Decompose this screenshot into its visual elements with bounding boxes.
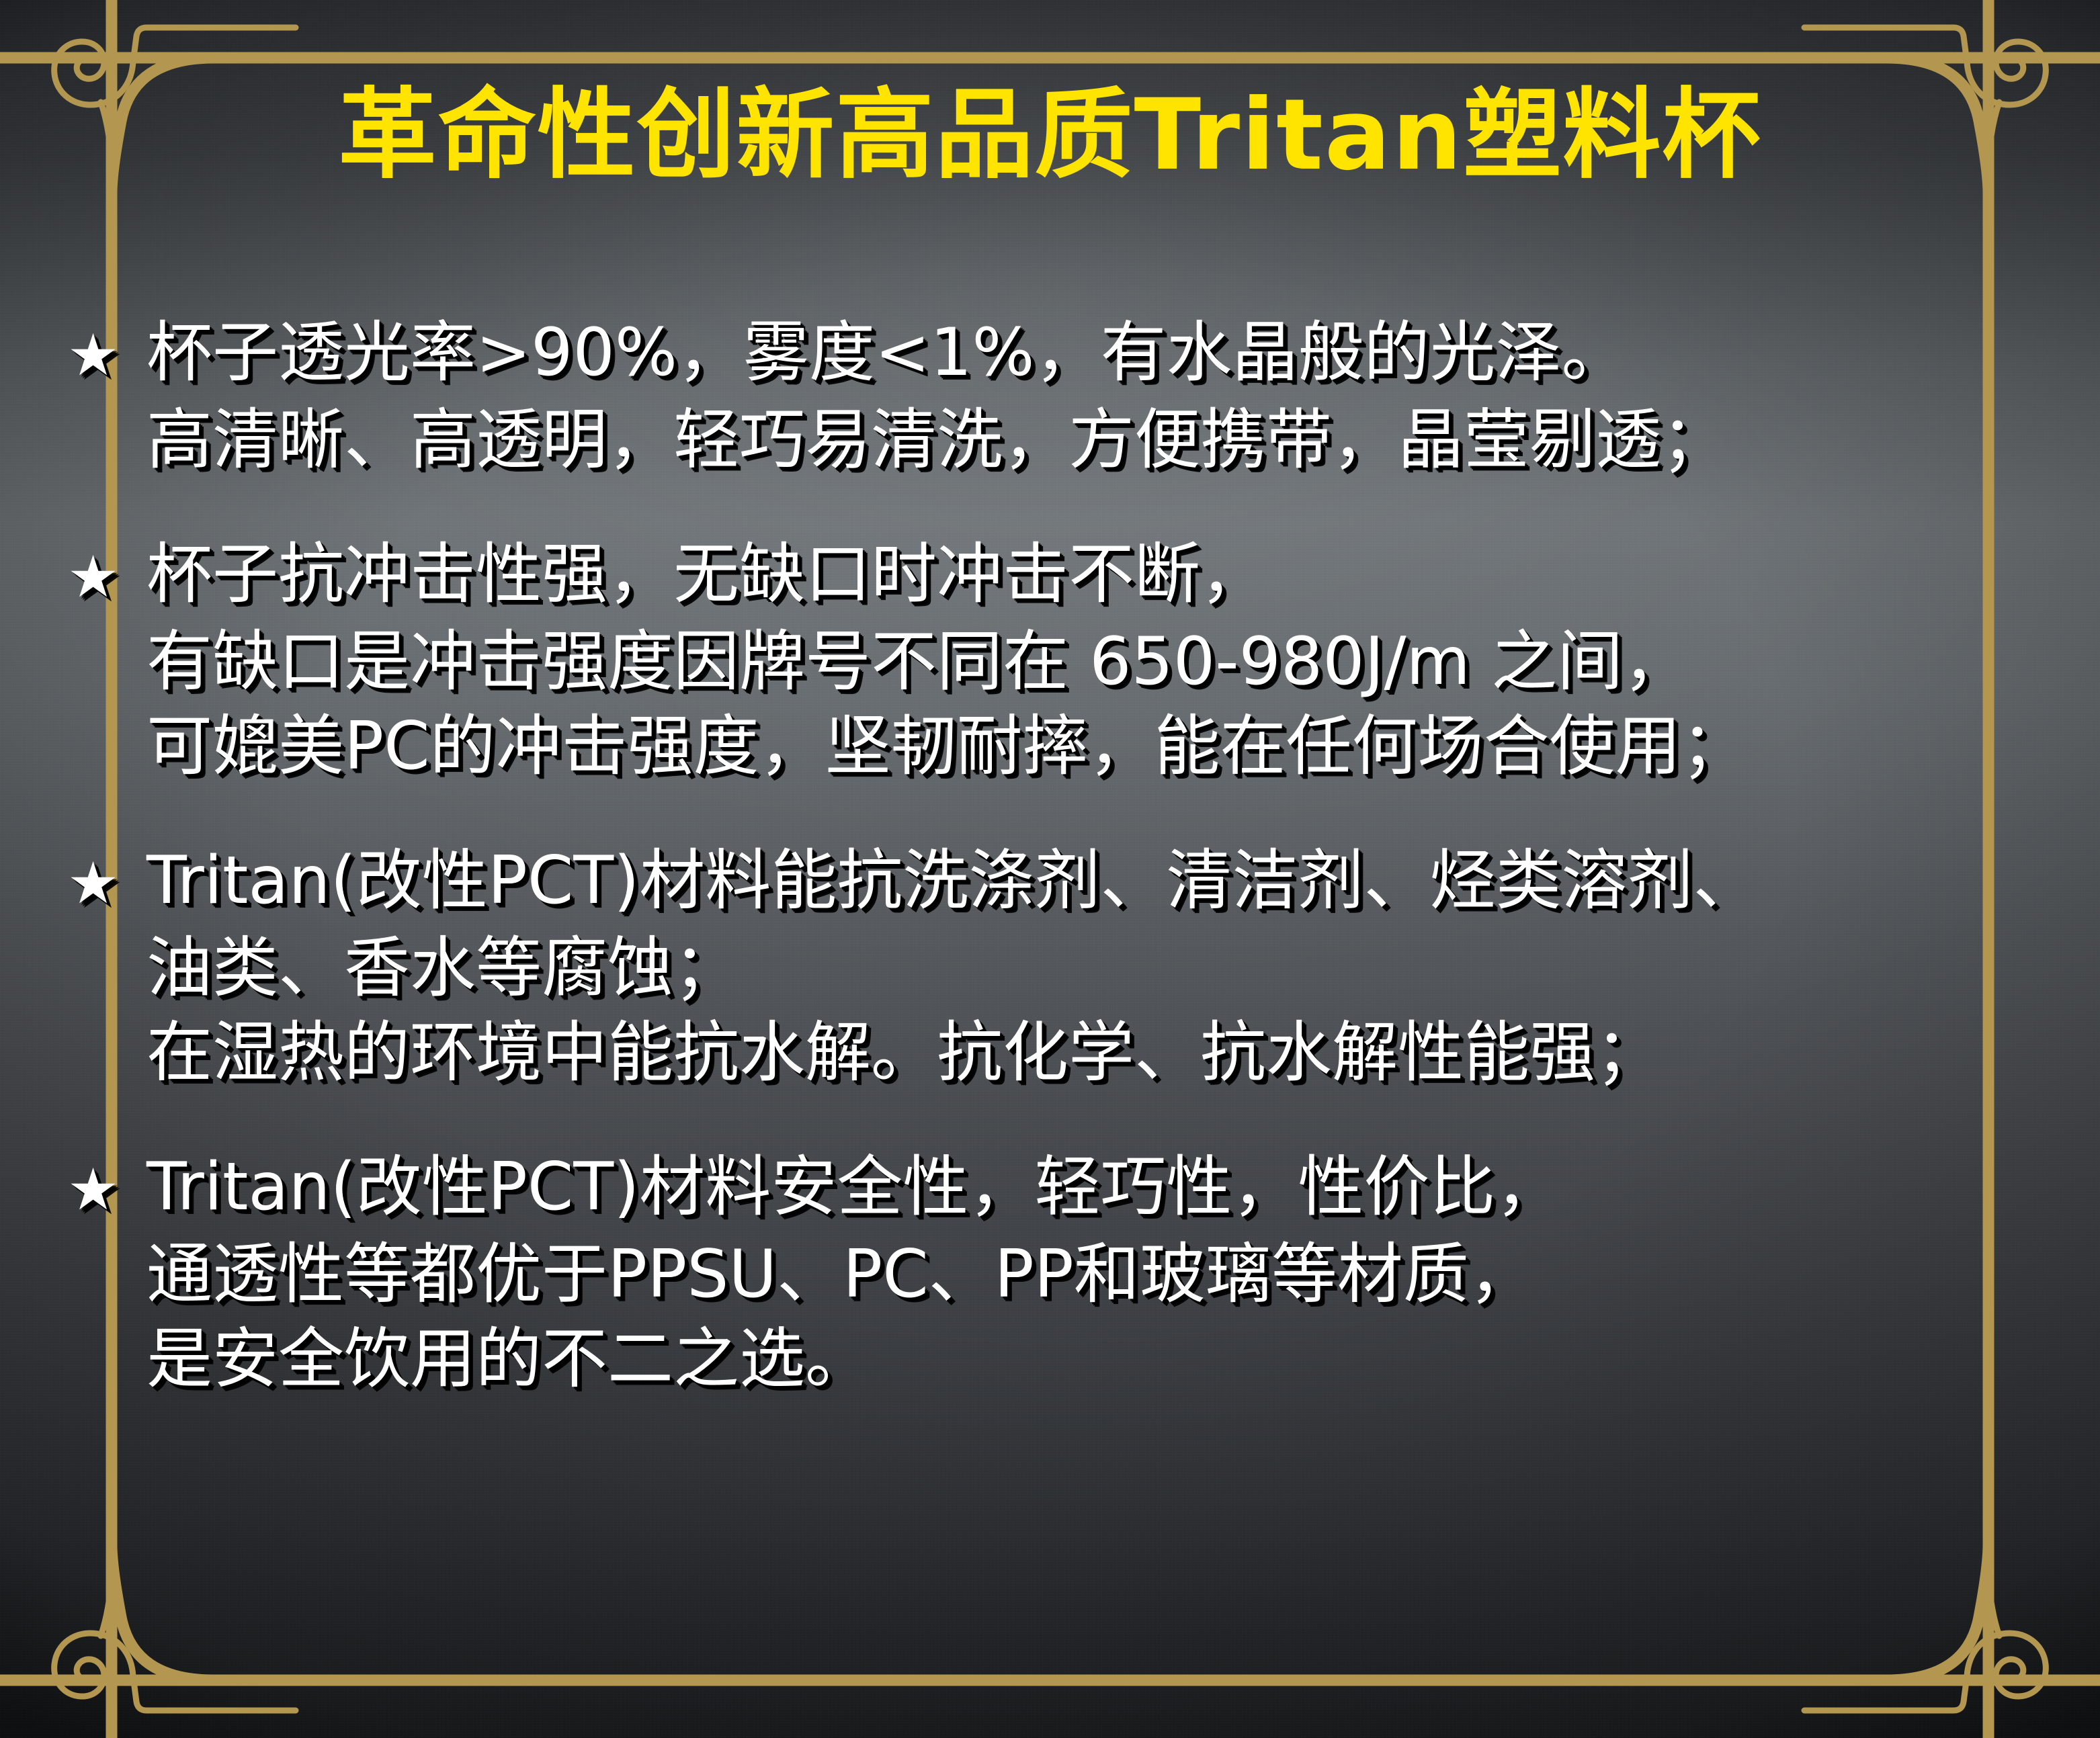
bullet-first-line: ★Tritan(改性PCT)材料安全性，轻巧性，性价比，: [67, 1145, 2060, 1232]
bullet-text: 杯子透光率>90%，雾度<1%，有水晶般的光泽。: [146, 314, 1628, 391]
slide-content: 革命性创新高品质Tritan塑料杯 ★杯子透光率>90%，雾度<1%，有水晶般的…: [0, 0, 2100, 1738]
bullet-item: ★杯子透光率>90%，雾度<1%，有水晶般的光泽。 高清晰、高透明，轻巧易清洗，…: [67, 310, 2060, 482]
bullet-text: Tritan(改性PCT)材料能抗洗涤剂、清洁剂、烃类溶剂、: [146, 842, 1759, 919]
bullet-text: 油类、香水等腐蚀；: [67, 926, 2060, 1010]
bullet-item: ★Tritan(改性PCT)材料安全性，轻巧性，性价比， 通透性等都优于PPSU…: [67, 1145, 2060, 1401]
bullet-item: ★杯子抗冲击性强，无缺口时冲击不断， 有缺口是冲击强度因牌号不同在 650-98…: [67, 532, 2060, 789]
bullet-first-line: ★Tritan(改性PCT)材料能抗洗涤剂、清洁剂、烃类溶剂、: [67, 838, 2060, 926]
bullet-text: 可媲美PC的冲击强度，坚韧耐摔，能在任何场合使用；: [67, 704, 2060, 789]
slide-canvas: 革命性创新高品质Tritan塑料杯 ★杯子透光率>90%，雾度<1%，有水晶般的…: [0, 0, 2100, 1738]
bullet-text: 有缺口是冲击强度因牌号不同在 650-980J/m 之间，: [67, 619, 2060, 704]
star-bullet-icon: ★: [67, 1147, 146, 1232]
bullet-first-line: ★杯子抗冲击性强，无缺口时冲击不断，: [67, 532, 2060, 619]
slide-title: 革命性创新高品质Tritan塑料杯: [0, 86, 2100, 184]
star-bullet-icon: ★: [67, 841, 146, 926]
bullet-text: 是安全饮用的不二之选。: [67, 1317, 2060, 1401]
bullet-text: 杯子抗冲击性强，无缺口时冲击不断，: [146, 536, 1266, 613]
bullet-text: 高清晰、高透明，轻巧易清洗，方便携带，晶莹剔透；: [67, 398, 2060, 482]
bullet-first-line: ★杯子透光率>90%，雾度<1%，有水晶般的光泽。: [67, 310, 2060, 398]
bullet-text: 通透性等都优于PPSU、PC、PP和玻璃等材质，: [67, 1232, 2060, 1317]
star-bullet-icon: ★: [67, 313, 146, 398]
star-bullet-icon: ★: [67, 535, 146, 619]
bullet-text: Tritan(改性PCT)材料安全性，轻巧性，性价比，: [146, 1149, 1561, 1225]
bullet-list: ★杯子透光率>90%，雾度<1%，有水晶般的光泽。 高清晰、高透明，轻巧易清洗，…: [67, 310, 2060, 1401]
bullet-item: ★Tritan(改性PCT)材料能抗洗涤剂、清洁剂、烃类溶剂、 油类、香水等腐蚀…: [67, 838, 2060, 1095]
bullet-text: 在湿热的环境中能抗水解。抗化学、抗水解性能强；: [67, 1010, 2060, 1095]
